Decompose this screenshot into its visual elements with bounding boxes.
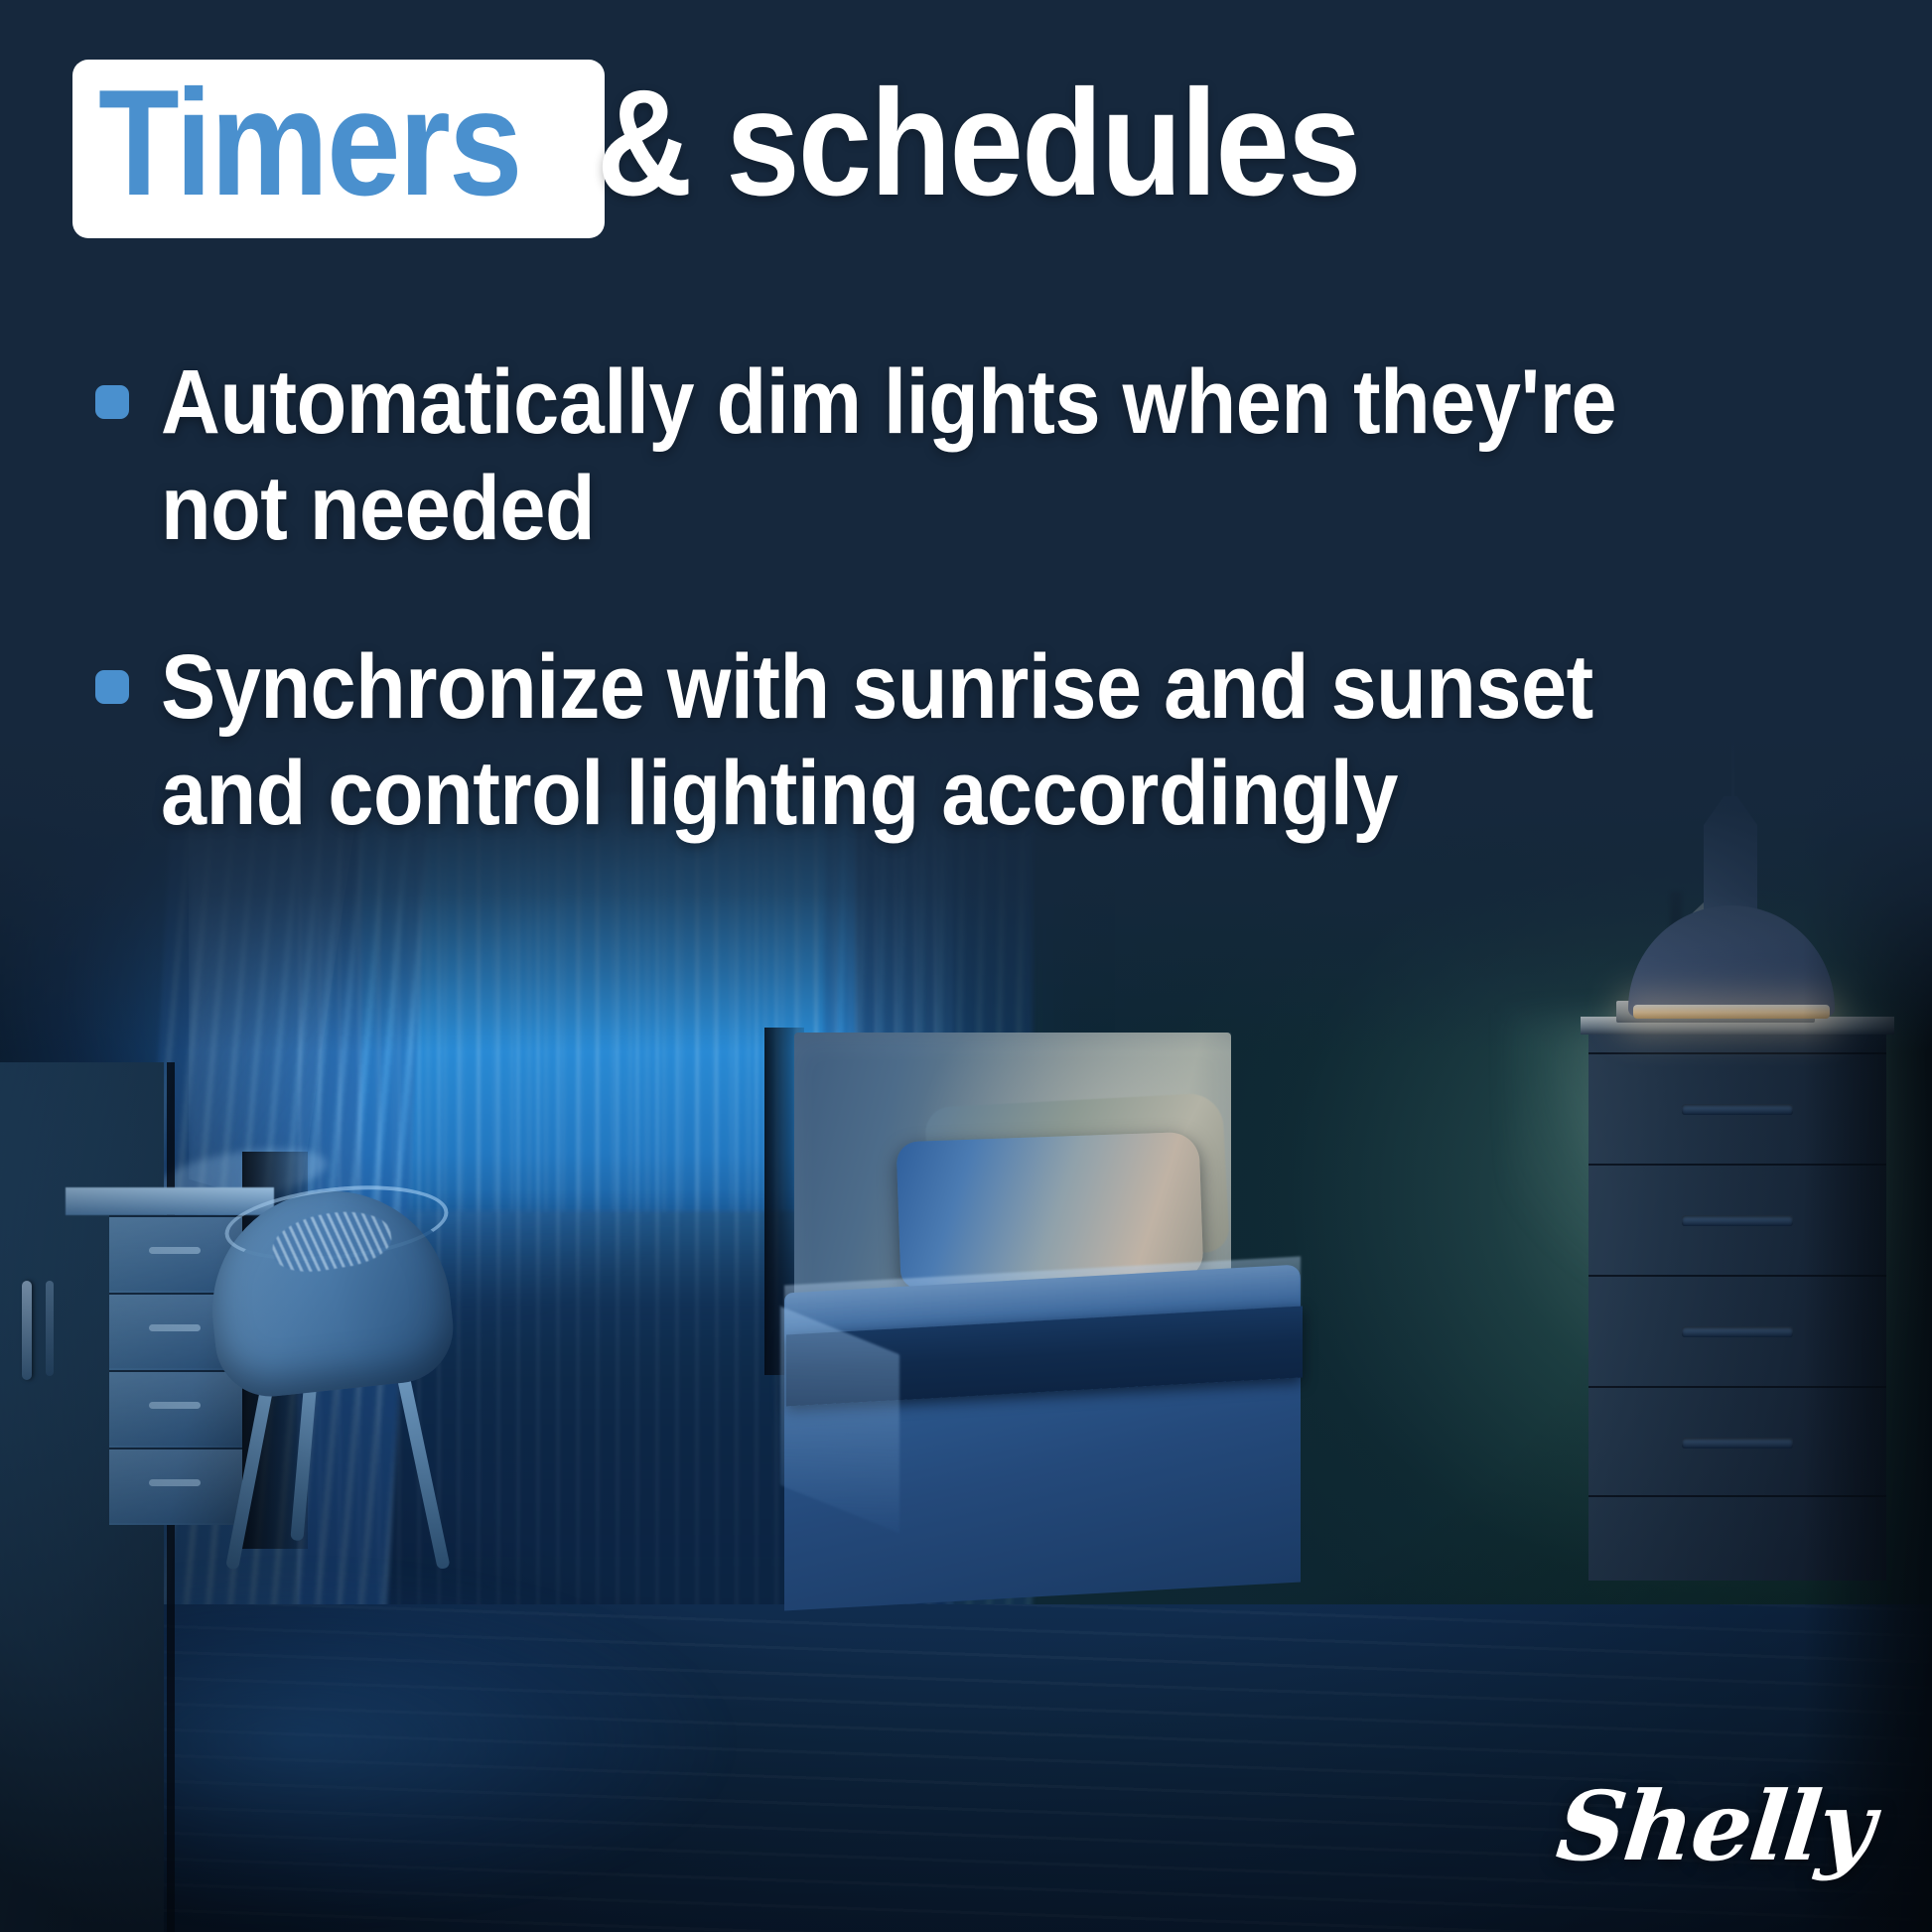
poster-canvas: Timers & schedules Automatically dim lig… xyxy=(0,0,1932,1932)
headline-highlight-word: Timers xyxy=(98,77,521,210)
headline-rest: & schedules xyxy=(597,77,1360,210)
square-bullet-icon xyxy=(95,385,129,419)
list-item: Automatically dim lights when they're no… xyxy=(95,349,1872,561)
list-item: Synchronize with sunrise and sunset and … xyxy=(95,634,1872,846)
bullet-text: Synchronize with sunrise and sunset and … xyxy=(161,634,1702,846)
square-bullet-icon xyxy=(95,670,129,704)
headline: Timers & schedules xyxy=(72,60,1463,238)
bullet-text: Automatically dim lights when they're no… xyxy=(161,349,1702,561)
feature-bullet-list: Automatically dim lights when they're no… xyxy=(95,349,1872,920)
headline-highlight-chip: Timers xyxy=(72,60,605,238)
shelly-logo: Shelly xyxy=(1552,1770,1878,1882)
